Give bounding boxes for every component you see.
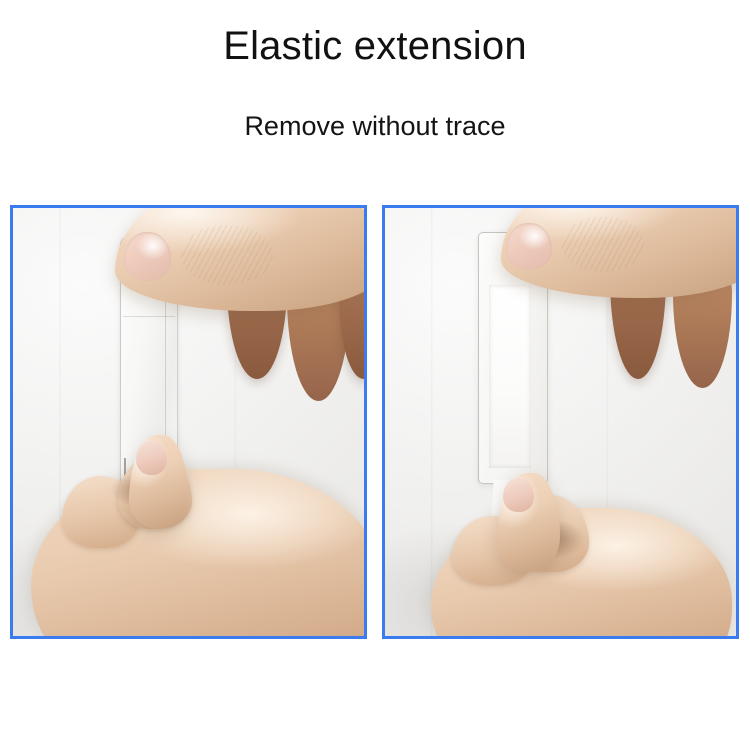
- hand-top-index-fingernail: [506, 223, 552, 270]
- strip-crease-line: [123, 316, 174, 317]
- stretch-strip-photo: [385, 208, 736, 636]
- page-subtitle: Remove without trace: [0, 110, 750, 142]
- fist-thumbnail: [503, 478, 535, 512]
- apply-strip-photo: [13, 208, 364, 636]
- hand-top-knuckle-creases: [181, 225, 272, 285]
- hand-top-index-fingernail: [124, 232, 171, 281]
- pad-felt-surface: [489, 285, 531, 468]
- photo-panel-apply[interactable]: [10, 205, 367, 639]
- photo-panel-stretch[interactable]: [382, 205, 739, 639]
- hand-top-knuckle-creases: [561, 217, 645, 273]
- product-infographic: Elastic extension Remove without trace: [0, 0, 750, 750]
- fist-thumbnail: [136, 441, 168, 475]
- page-title: Elastic extension: [0, 22, 750, 70]
